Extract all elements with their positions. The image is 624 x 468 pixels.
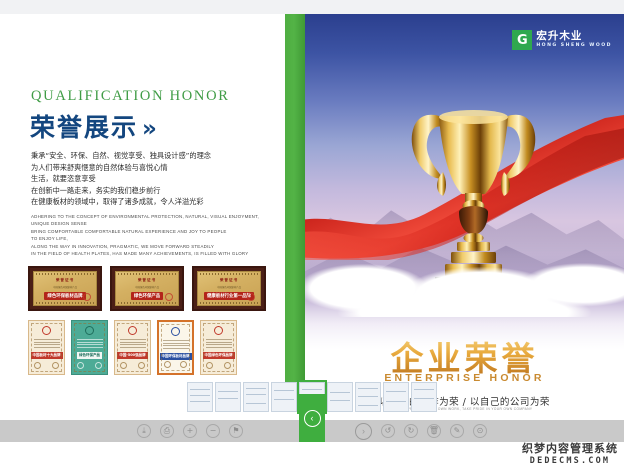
redo-icon[interactable]: ↻ — [404, 424, 418, 438]
flipbook-viewer: QUALIFICATION HONOR 荣誉展示» 秉承“安全、环保、自然、视觉… — [0, 0, 624, 468]
logo-mark-icon: G — [512, 30, 532, 50]
certificate-row-landscape: 荣誉证书 中国绿色环保建材产品 绿色环保板材品牌 荣誉证书 中国绿色环保建材产品… — [28, 266, 266, 311]
intro-cn-line: 在健康板材的领域中，取得了诸多成就，令人洋溢光彩 — [31, 196, 261, 208]
cert-stamps — [29, 362, 64, 369]
page-spread: QUALIFICATION HONOR 荣誉展示» 秉承“安全、环保、自然、视觉… — [0, 14, 624, 412]
intro-en-line: ADHERING TO THE CONCEPT OF ENVIRONMENTAL… — [31, 213, 271, 220]
edit-icon[interactable]: ✎ — [450, 424, 464, 438]
viewer-top-bar — [0, 0, 624, 14]
certificate-card[interactable]: 中国环保板材品牌 — [157, 320, 194, 375]
intro-en-line: UNIQUE DESIGN SENSE — [31, 220, 271, 227]
page-left[interactable]: QUALIFICATION HONOR 荣誉展示» 秉承“安全、环保、自然、视觉… — [0, 14, 285, 412]
logo-name-en: HONG SHENG WOOD — [536, 44, 612, 49]
page-gutter-divider — [285, 14, 305, 412]
previous-page-tab[interactable]: ‹ — [299, 394, 325, 442]
certificate-card[interactable]: 中国绿色环保品牌 — [200, 320, 237, 375]
cert-title: 荣誉证书 — [220, 278, 238, 283]
cert-stamps — [72, 362, 107, 369]
certificate-card[interactable]: 荣誉证书 中国绿色环保建材产品 绿色环保板材品牌 — [28, 266, 102, 311]
cert-seal-icon — [165, 293, 173, 301]
poster-slogan-en: TAKE PRIDE IN YOUR OWN WORK, TAKE PRIDE … — [305, 407, 624, 411]
intro-cn-line: 秉承“安全、环保、自然、视觉享受、独具设计感”的理念 — [31, 150, 261, 162]
intro-cn-line: 为人们带来舒爽惬意的自然体验与喜悦心情 — [31, 162, 261, 174]
zoom-out-icon[interactable]: − — [206, 424, 220, 438]
zoom-in-icon[interactable]: + — [183, 424, 197, 438]
cert-border-dots — [200, 302, 258, 304]
logo-name-cn: 宏升木业 — [536, 31, 612, 42]
intro-en-line: TO ENJOY LIFE, — [31, 235, 271, 242]
next-page-button[interactable]: › — [355, 423, 372, 440]
viewer-footer: 织梦内容管理系统 DEDECMS.COM — [0, 442, 624, 468]
settings-icon[interactable]: ⊙ — [473, 424, 487, 438]
qualification-heading-cn: 荣誉展示» — [30, 108, 155, 144]
download-icon[interactable]: ⤓ — [137, 424, 151, 438]
cert-subtitle: 中国绿色环保建材产品 — [53, 285, 77, 289]
certificate-card[interactable]: 中国-500强品牌 — [114, 320, 151, 375]
poster-title-en: ENTERPRISE HONOR — [305, 372, 624, 384]
toolbar-left-group: ⤓ ⎙ + − ⚑ — [137, 424, 243, 438]
certificate-card[interactable]: 荣誉证书 中国绿色环保建材产品 健康板材行业第一品牌 — [192, 266, 266, 311]
cert-seal-icon — [83, 293, 91, 301]
intro-en-line: IN THE FIELD OF HEALTH PLATES, HAS MADE … — [31, 250, 271, 257]
cert-title: 荣誉证书 — [56, 278, 74, 283]
poster-slogan-cn: 以自己的工作为荣 / 以自己的公司为荣 — [305, 394, 624, 408]
delete-icon[interactable]: 🗑 — [427, 424, 441, 438]
intro-cn-line: 在创新中一路走来，务实的我们稳步前行 — [31, 185, 261, 197]
intro-paragraph-cn: 秉承“安全、环保、自然、视觉享受、独具设计感”的理念 为人们带来舒爽惬意的自然体… — [31, 150, 261, 208]
heading-cn-text: 荣誉展示 — [30, 113, 138, 142]
cert-subtitle: 中国绿色环保建材产品 — [135, 285, 159, 289]
watermark-cn: 织梦内容管理系统 — [522, 440, 618, 456]
watermark: 织梦内容管理系统 DEDECMS.COM — [522, 440, 618, 466]
cert-border-dots — [36, 273, 94, 275]
cert-seal-icon — [247, 293, 255, 301]
intro-paragraph-en: ADHERING TO THE CONCEPT OF ENVIRONMENTAL… — [31, 213, 271, 257]
qualification-heading-en: QUALIFICATION HONOR — [31, 88, 230, 105]
cert-stamps — [159, 361, 192, 368]
bookmark-icon[interactable]: ⚑ — [229, 424, 243, 438]
undo-icon[interactable]: ↺ — [381, 424, 395, 438]
previous-page-button[interactable]: ‹ — [304, 410, 321, 427]
chevron-right-icon: » — [142, 116, 155, 142]
certificate-card[interactable]: 荣誉证书 中国绿色环保建材产品 绿色环保产品 — [110, 266, 184, 311]
print-icon[interactable]: ⎙ — [160, 424, 174, 438]
intro-en-line: ALONG THE WAY IN INNOVATION, PRAGMATIC, … — [31, 243, 271, 250]
certificate-card[interactable]: 绿色环保产品 — [71, 320, 108, 375]
certificate-row-portrait: 中国板材十大品牌 绿色环保产品 中国-500强品牌 — [28, 320, 237, 375]
page-right[interactable]: G 宏升木业 HONG SHENG WOOD 企业荣誉 ENTERPRISE H… — [305, 14, 624, 412]
cert-title: 荣誉证书 — [138, 278, 156, 283]
cert-subtitle: 中国绿色环保建材产品 — [217, 285, 241, 289]
cloud-layer — [305, 202, 624, 317]
cert-border-dots — [118, 273, 176, 275]
company-logo[interactable]: G 宏升木业 HONG SHENG WOOD — [512, 30, 612, 50]
cert-border-dots — [118, 302, 176, 304]
watermark-en: DEDECMS.COM — [522, 456, 618, 466]
intro-en-line: BRING COMFORTABLE COMFORTABLE NATURAL EX… — [31, 228, 271, 235]
toolbar-right-group: › ↺ ↻ 🗑 ✎ ⊙ — [355, 423, 487, 440]
cert-band: 绿色环保板材品牌 — [44, 292, 85, 300]
certificate-card[interactable]: 中国板材十大品牌 — [28, 320, 65, 375]
cert-border-dots — [36, 302, 94, 304]
cert-stamps — [115, 362, 150, 369]
poster-artwork: G 宏升木业 HONG SHENG WOOD 企业荣誉 ENTERPRISE H… — [305, 14, 624, 412]
cert-border-dots — [200, 273, 258, 275]
cert-band: 绿色环保产品 — [131, 292, 163, 300]
intro-cn-line: 生活，就要恣意享受 — [31, 173, 261, 185]
cert-stamps — [201, 362, 236, 369]
